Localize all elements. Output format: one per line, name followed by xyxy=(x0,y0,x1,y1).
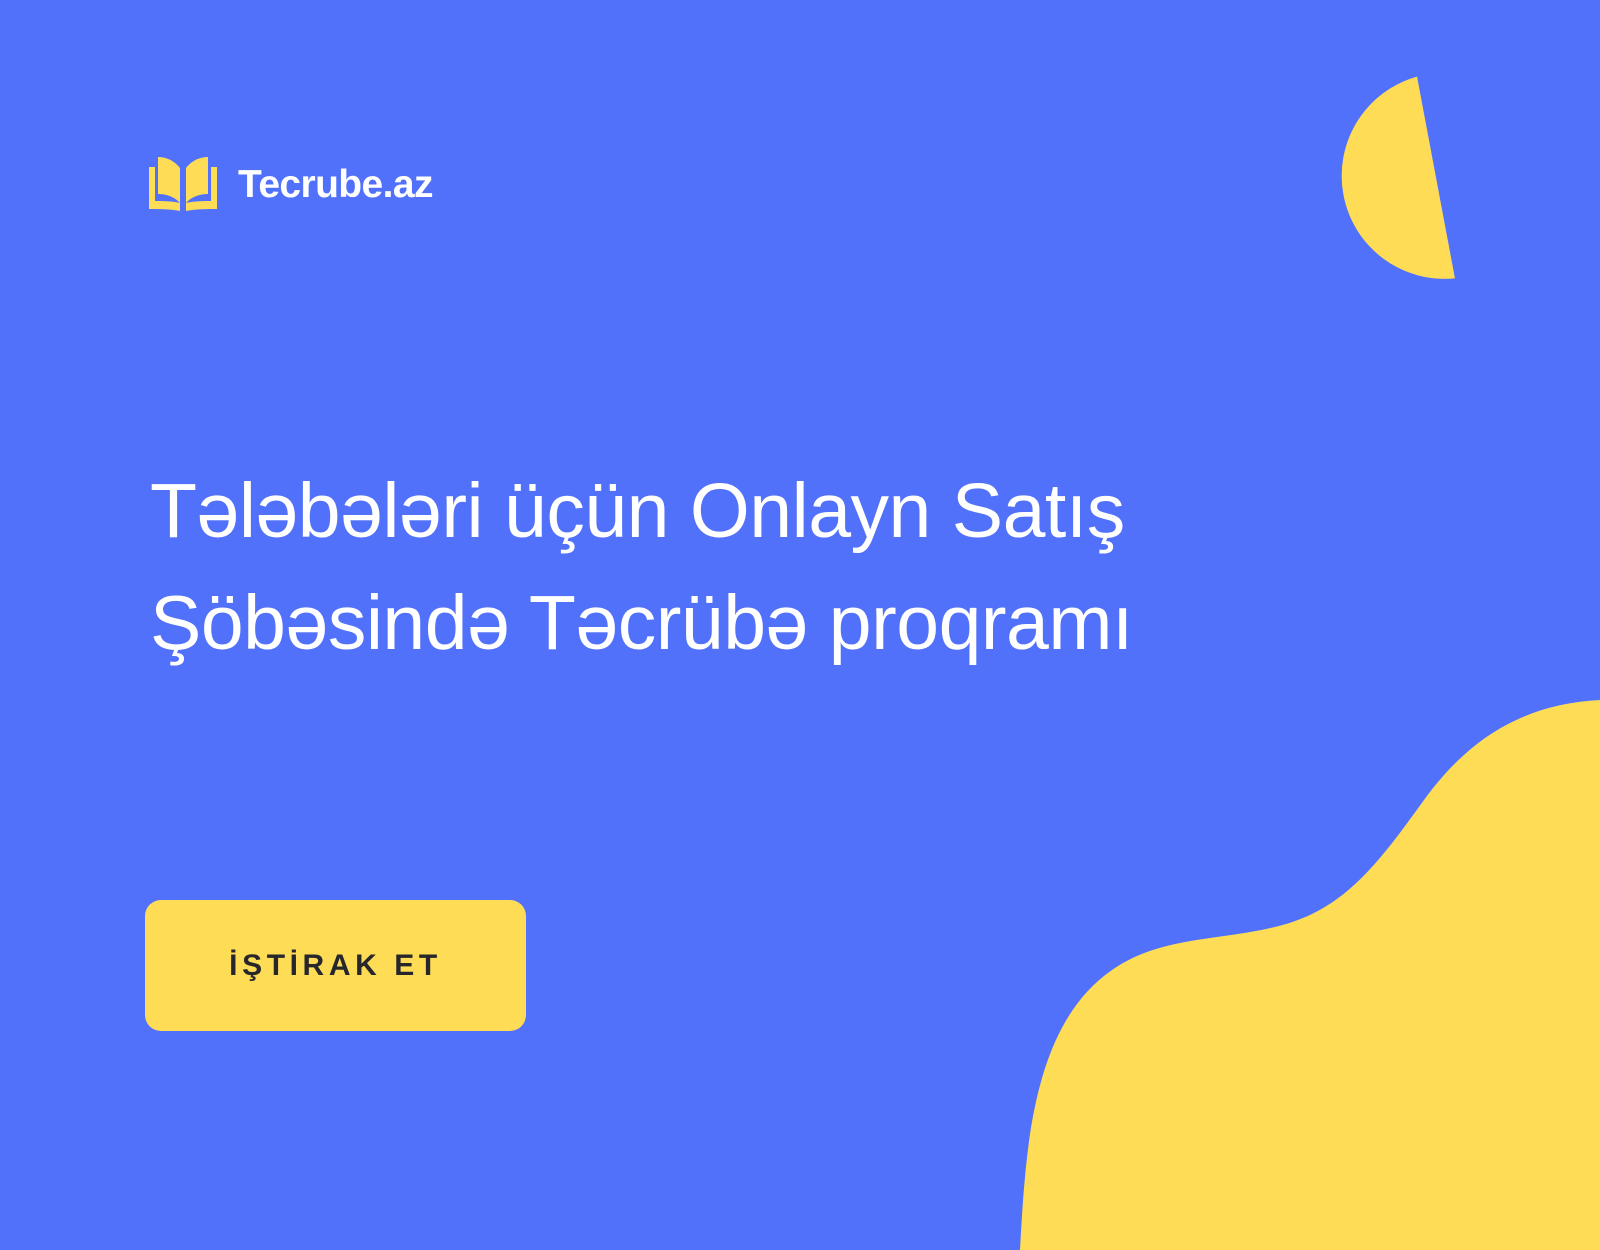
open-book-icon xyxy=(146,154,220,214)
logo[interactable]: Tecrube.az xyxy=(146,152,433,216)
participate-button[interactable]: İŞTİRAK ET xyxy=(145,900,526,1031)
promo-poster: Tecrube.az Tələbələri üçün Onlayn Satış … xyxy=(0,0,1600,1250)
logo-text: Tecrube.az xyxy=(238,165,433,204)
wave-blob-shape xyxy=(1020,700,1600,1250)
half-circle-shape xyxy=(1300,65,1539,302)
page-title: Tələbələri üçün Onlayn Satış Şöbəsində T… xyxy=(150,455,1410,679)
